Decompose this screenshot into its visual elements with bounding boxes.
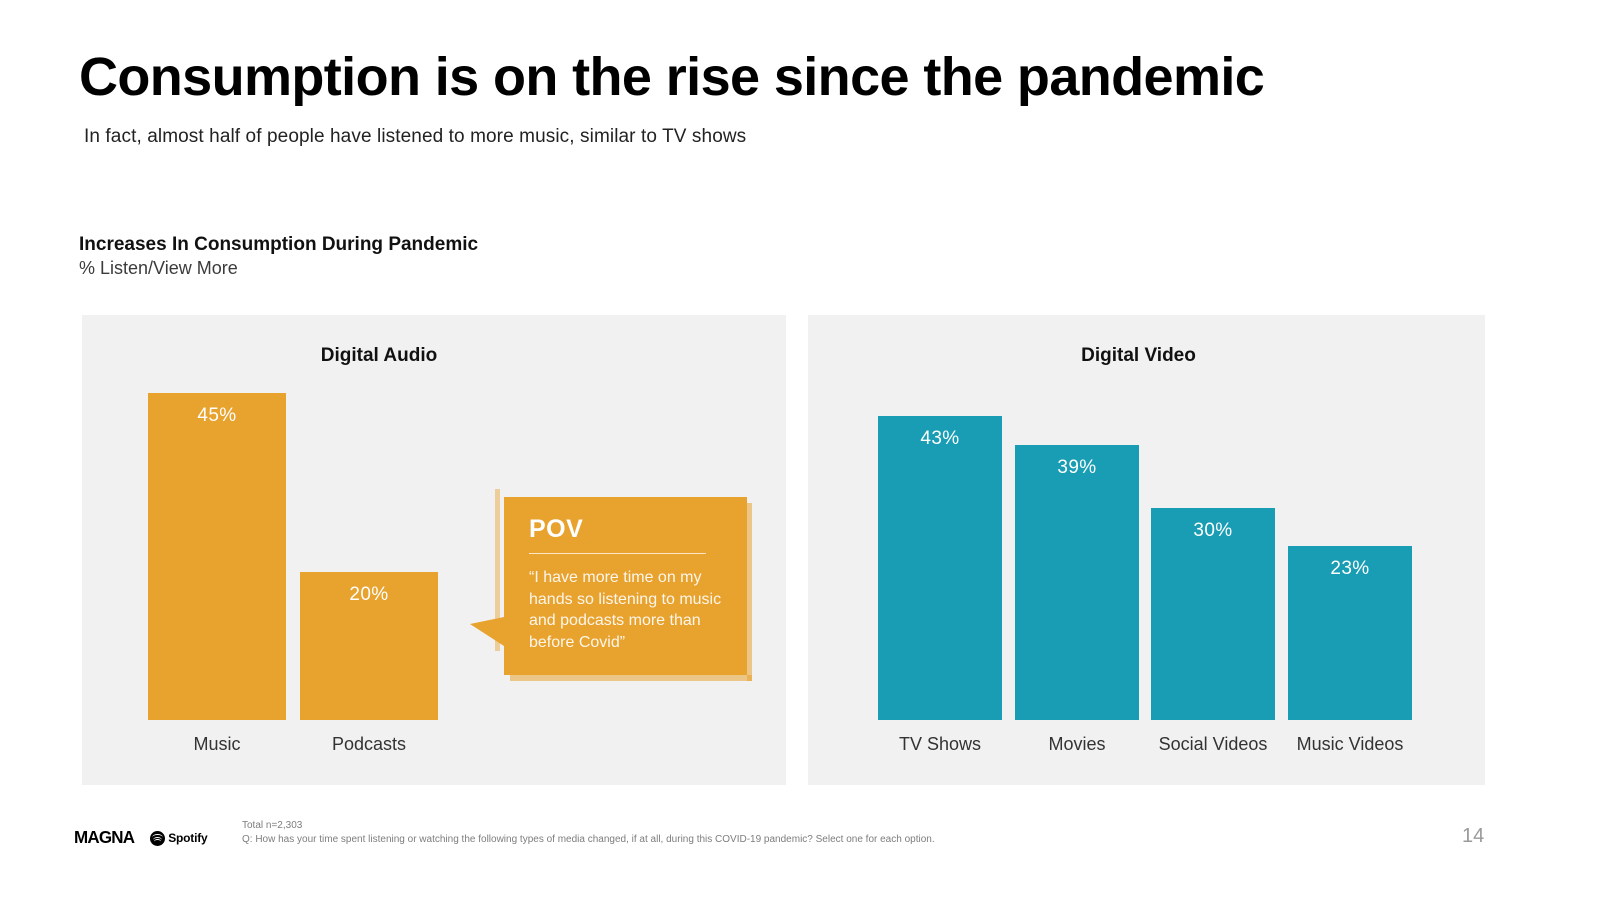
pov-divider	[529, 553, 706, 554]
page-number: 14	[1462, 825, 1484, 848]
bar-music[interactable]: 45%	[148, 393, 286, 720]
bar-podcasts[interactable]: 20%	[300, 572, 438, 720]
bar-value-podcasts: 20%	[300, 584, 438, 606]
callout-right-edge	[747, 503, 752, 681]
callout-tail-icon	[470, 617, 504, 646]
chart-panel-digital-video: Digital Video 43% TV Shows 39% Movies 30…	[808, 315, 1485, 785]
bar-label-social-videos: Social Videos	[1145, 734, 1281, 755]
bar-movies[interactable]: 39%	[1015, 445, 1139, 720]
spotify-wordmark: Spotify	[168, 831, 207, 845]
page-title: Consumption is on the rise since the pan…	[79, 48, 1264, 107]
bar-label-tv-shows: TV Shows	[878, 734, 1002, 755]
bar-value-music: 45%	[148, 405, 286, 427]
footer-question-text: Q: How has your time spent listening or …	[242, 834, 935, 845]
bar-label-music-videos: Music Videos	[1282, 734, 1418, 755]
pov-quote: “I have more time on my hands so listeni…	[529, 567, 734, 653]
bar-label-movies: Movies	[1015, 734, 1139, 755]
footer-logos: MAGNA Spotify	[74, 828, 207, 848]
chart-section-subtitle: % Listen/View More	[79, 258, 238, 279]
spotify-logo: Spotify	[150, 831, 207, 846]
bar-label-music: Music	[148, 734, 286, 755]
magna-logo: MAGNA	[74, 828, 134, 849]
bar-value-music-videos: 23%	[1288, 558, 1412, 580]
footer-total-n: Total n=2,303	[242, 820, 302, 831]
bar-value-social-videos: 30%	[1151, 520, 1275, 542]
bar-music-videos[interactable]: 23%	[1288, 546, 1412, 720]
bar-value-movies: 39%	[1015, 457, 1139, 479]
chart-section-title: Increases In Consumption During Pandemic	[79, 234, 478, 256]
pov-title: POV	[529, 515, 583, 544]
spotify-icon	[150, 831, 165, 846]
bar-value-tv-shows: 43%	[878, 428, 1002, 450]
callout-bottom-edge	[510, 675, 752, 681]
bar-social-videos[interactable]: 30%	[1151, 508, 1275, 720]
bar-label-podcasts: Podcasts	[300, 734, 438, 755]
plot-area-digital-video: 43% TV Shows 39% Movies 30% Social Video…	[808, 315, 1485, 785]
pov-callout[interactable]: POV “I have more time on my hands so lis…	[504, 497, 747, 675]
page-subtitle: In fact, almost half of people have list…	[84, 126, 746, 148]
bar-tv-shows[interactable]: 43%	[878, 416, 1002, 720]
